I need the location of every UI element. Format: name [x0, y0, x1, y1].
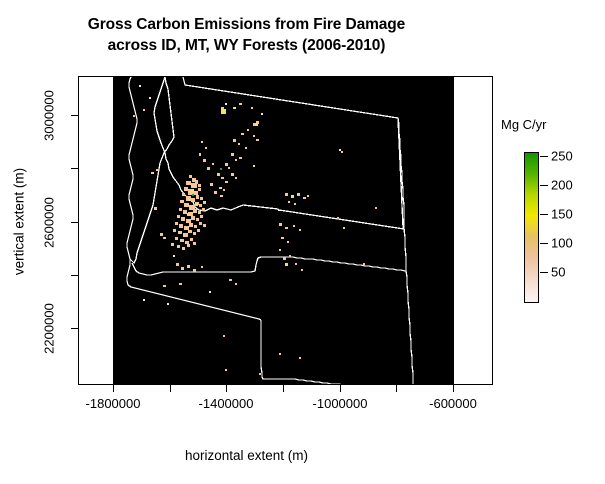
y-tick-major [71, 222, 78, 223]
y-axis-title: vertical extent (m) [12, 152, 27, 292]
legend-tick-label: 200 [551, 178, 573, 193]
x-tick-minor [170, 385, 171, 392]
legend-colorbar [524, 152, 539, 303]
legend-tick [540, 214, 548, 215]
legend-tick [540, 243, 548, 244]
y-tick-major [71, 115, 78, 116]
plot-canvas: Gross Carbon Emissions from Fire Damage … [0, 0, 605, 484]
emissions-raster [113, 77, 454, 385]
legend-tick [540, 156, 548, 157]
chart-title-line1: Gross Carbon Emissions from Fire Damage [88, 16, 405, 33]
x-axis-title: horizontal extent (m) [0, 448, 493, 463]
x-axis-label: -1800000 [86, 396, 141, 411]
x-tick-minor [396, 385, 397, 392]
legend-tick [540, 185, 548, 186]
legend-tick-label: 250 [551, 149, 573, 164]
legend-tick-label: 150 [551, 207, 573, 222]
emission-cells [133, 85, 377, 375]
legend-tick-label: 50 [551, 265, 565, 280]
y-tick-minor [71, 275, 78, 276]
y-tick-minor [71, 168, 78, 169]
legend-tick [540, 272, 548, 273]
x-tick-major [340, 385, 341, 392]
x-tick-major [113, 385, 114, 392]
x-axis-label: -1000000 [313, 396, 368, 411]
y-axis-label: 2600000 [42, 163, 57, 283]
x-tick-minor [283, 385, 284, 392]
legend-title: Mg C/yr [501, 117, 547, 132]
chart-title-line2: across ID, MT, WY Forests (2006-2010) [0, 35, 493, 56]
chart-title: Gross Carbon Emissions from Fire Damage … [0, 14, 493, 56]
y-tick-major [71, 328, 78, 329]
x-axis-label: -600000 [429, 396, 477, 411]
legend-tick-label: 100 [551, 236, 573, 251]
plot-area [78, 76, 493, 385]
state-boundary-overlay [113, 77, 454, 385]
x-tick-major [453, 385, 454, 392]
x-tick-major [226, 385, 227, 392]
x-axis-label: -1400000 [199, 396, 254, 411]
y-axis-label: 2200000 [42, 269, 57, 389]
y-axis-label: 3000000 [42, 56, 57, 176]
